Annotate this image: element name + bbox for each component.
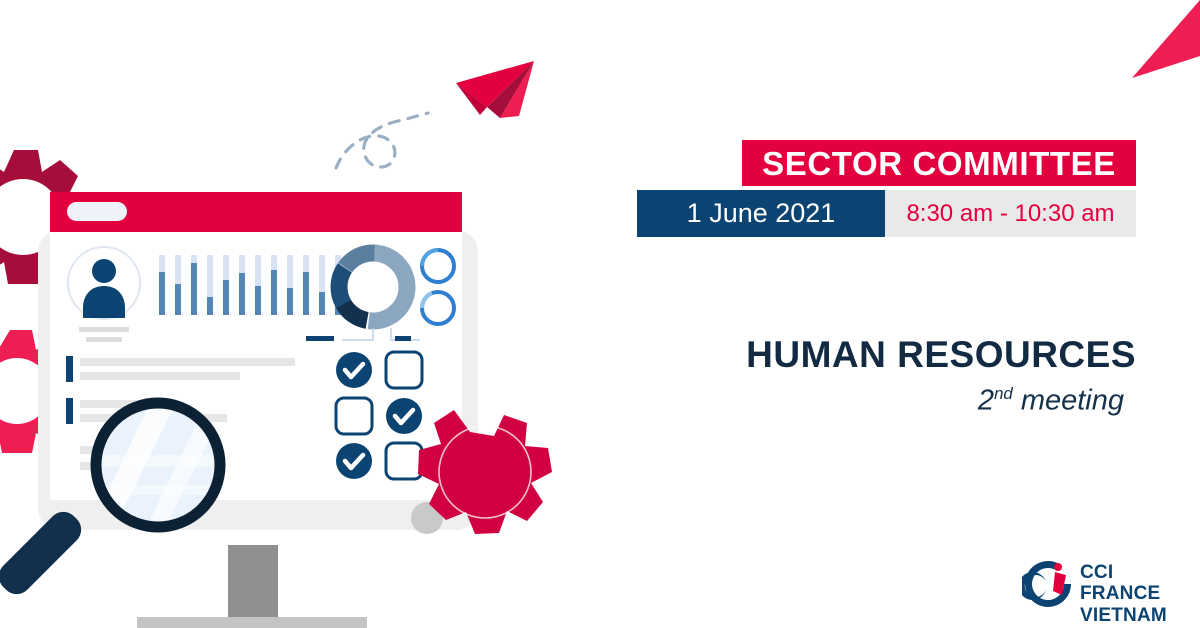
event-time-label: 8:30 am - 10:30 am: [906, 202, 1114, 226]
event-info-panel: SECTOR COMMITTEE 1 June 2021 8:30 am - 1…: [600, 0, 1200, 628]
cci-logo-mark-icon: [1022, 558, 1074, 610]
logo-line-2: VIETNAM: [1080, 605, 1187, 626]
sector-committee-banner: SECTOR COMMITTEE: [742, 140, 1136, 186]
checkbox-1-checked: [336, 352, 372, 388]
list-line-1a: [80, 358, 295, 366]
checkbox-4-checked: [386, 398, 422, 434]
paper-plane-trail: [336, 113, 428, 168]
event-date-block: 1 June 2021: [637, 190, 885, 237]
event-date-label: 1 June 2021: [687, 200, 836, 227]
page-title: HUMAN RESOURCES: [600, 335, 1136, 376]
logo-wordmark: CCI FRANCE VIETNAM: [1080, 562, 1187, 626]
paper-plane-icon: [456, 61, 534, 118]
monitor-stand-neck: [228, 545, 278, 617]
hero-illustration: [0, 0, 600, 628]
list-line-1b: [80, 372, 240, 380]
checkbox-2-unchecked: [386, 352, 422, 388]
cci-france-vietnam-logo: CCI FRANCE VIETNAM: [1022, 556, 1187, 614]
meeting-subtitle-word: meeting: [1013, 385, 1124, 417]
event-banner: SECTOR COMMITTEE 1 June 2021 8:30 am - 1…: [0, 0, 1200, 628]
avatar-label-line-1: [79, 327, 129, 332]
event-time-block: 8:30 am - 10:30 am: [885, 190, 1136, 237]
checkbox-6-unchecked: [386, 443, 422, 479]
list-marker-2: [66, 398, 73, 424]
meeting-ordinal-number: 2: [978, 385, 994, 417]
checkbox-3-unchecked: [336, 398, 372, 434]
list-marker-1: [66, 356, 73, 382]
avatar: [68, 247, 140, 319]
sector-committee-label: SECTOR COMMITTEE: [762, 147, 1116, 180]
monitor-stand-base: [137, 617, 367, 628]
screen-titlebar-pill: [67, 202, 127, 221]
avatar-label-line-2: [86, 337, 122, 342]
checkbox-5-checked: [336, 443, 372, 479]
meeting-subtitle: 2nd meeting: [600, 385, 1124, 418]
logo-line-1: CCI FRANCE: [1080, 562, 1187, 605]
meeting-ordinal-suffix: nd: [994, 384, 1013, 403]
